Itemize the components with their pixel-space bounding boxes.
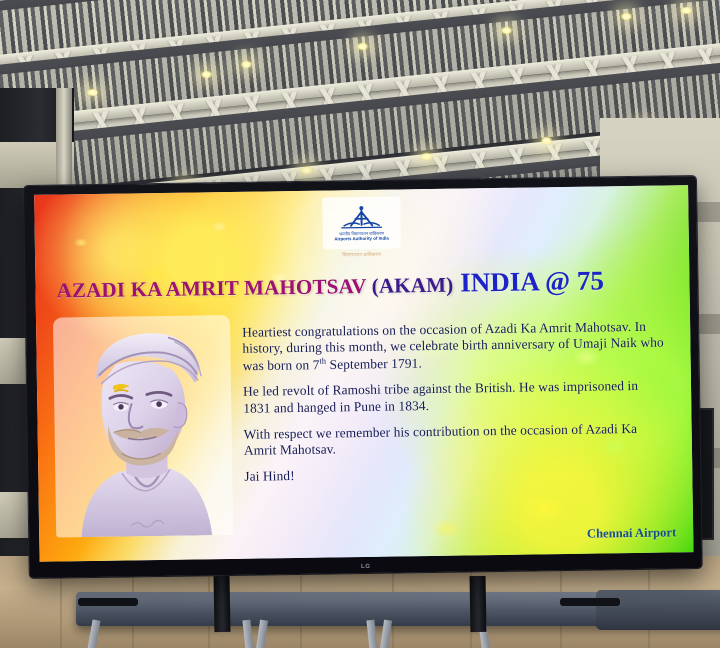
- slide-content: भारतीय विमानपत्तन प्राधिकरण Airports Aut…: [34, 185, 693, 562]
- paragraph-1: Heartiest congratulations on the occasio…: [242, 318, 668, 374]
- umaji-naik-portrait: [53, 315, 233, 538]
- airport-terminal-photo: LG भारतीय विमानपत्तन प्राधिकरण Airpo: [0, 0, 720, 648]
- tv-stand-post: [470, 576, 487, 632]
- announcement-body: Heartiest congratulations on the occasio…: [242, 318, 670, 495]
- logo-watermark-tagline: विमानपत्तन प्राधिकरण: [323, 252, 401, 259]
- airports-authority-of-india-logo: भारतीय विमानपत्तन प्राधिकरण Airports Aut…: [322, 197, 401, 250]
- tv-stand-foot: [78, 598, 138, 606]
- tv-brand-logo: LG: [361, 564, 370, 570]
- title-part-akam: AZADI KA AMRIT MAHOTSAV: [56, 274, 366, 303]
- tv-stand-post: [214, 576, 231, 632]
- slide-credit: Chennai Airport: [587, 525, 676, 541]
- logo-english-text: Airports Authority of India: [334, 237, 389, 242]
- title-part-akam-abbrev: (AKAM): [371, 273, 453, 298]
- paragraph-3: With respect we remember his contributio…: [244, 420, 670, 459]
- tv-stand-foot: [560, 598, 620, 606]
- paragraph-jai-hind: Jai Hind!: [244, 463, 669, 486]
- title-part-india75: INDIA @ 75: [460, 265, 604, 297]
- display-screen-bezel: LG भारतीय विमानपत्तन प्राधिकरण Airpo: [24, 176, 702, 578]
- waiting-chair: [596, 590, 720, 630]
- paragraph-2: He led revolt of Ramoshi tribe against t…: [243, 378, 669, 417]
